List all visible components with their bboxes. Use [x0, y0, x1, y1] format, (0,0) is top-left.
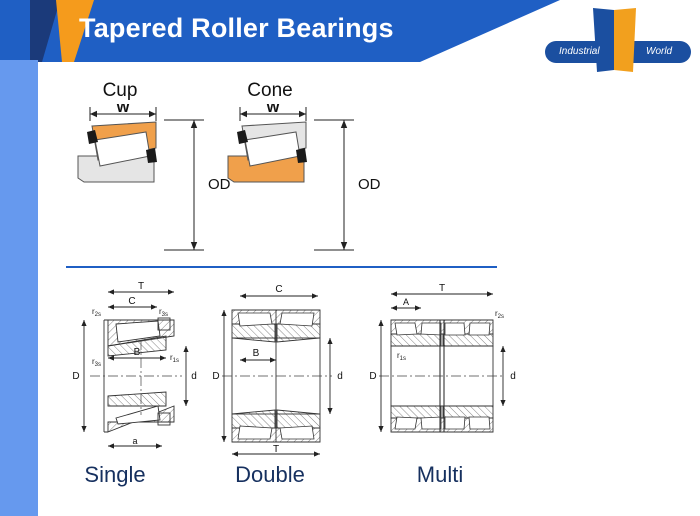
cone-title: Cone	[210, 80, 330, 102]
double-bearing-diagram: C B D d T	[208, 280, 358, 460]
left-accent-sidebar	[0, 60, 38, 516]
single-radius-r3s: r3s	[159, 307, 168, 318]
single-radius-r1s: r1s	[170, 353, 179, 364]
cone-dim-w-label: W	[266, 104, 280, 115]
multi-label: Multi	[365, 462, 515, 488]
multi-dim-D: D	[369, 371, 376, 382]
single-bearing-diagram: T C B D d a r2s r3s r3s r1s	[62, 280, 212, 460]
multi-dim-T: T	[439, 283, 445, 294]
page-title: Tapered Roller Bearings	[79, 13, 394, 44]
single-label: Single	[40, 462, 190, 488]
multi-dim-A: A	[403, 297, 409, 307]
single-dim-B: B	[134, 347, 141, 358]
cup-title: Cup	[60, 80, 180, 102]
section-divider	[66, 266, 497, 268]
single-dim-D: D	[72, 371, 79, 382]
brand-logo: Industrial World	[545, 8, 693, 80]
double-dim-d: d	[337, 371, 343, 382]
logo-text-industrial: Industrial	[559, 41, 600, 63]
single-dim-d: d	[191, 371, 197, 382]
cone-diagram: W OD	[212, 104, 392, 264]
cone-dim-od-label: OD	[358, 176, 381, 193]
double-dim-B: B	[253, 348, 260, 359]
multi-radius-r2s: r2s	[495, 309, 504, 320]
multi-dim-d: d	[510, 371, 516, 382]
single-dim-C: C	[128, 296, 135, 307]
logo-text-world: World	[646, 41, 672, 63]
double-dim-C: C	[275, 284, 282, 295]
single-radius-r3s-left: r3s	[92, 357, 101, 368]
multi-radius-r1s: r1s	[397, 351, 406, 362]
double-dim-T: T	[273, 444, 279, 455]
double-label: Double	[195, 462, 345, 488]
double-dim-D: D	[212, 371, 219, 382]
cup-dim-w-label: W	[116, 104, 130, 115]
single-dim-a: a	[132, 436, 137, 446]
multi-bearing-diagram: T A D d r2s r1s	[365, 280, 525, 460]
single-dim-T: T	[138, 281, 144, 292]
single-radius-r2s: r2s	[92, 307, 101, 318]
